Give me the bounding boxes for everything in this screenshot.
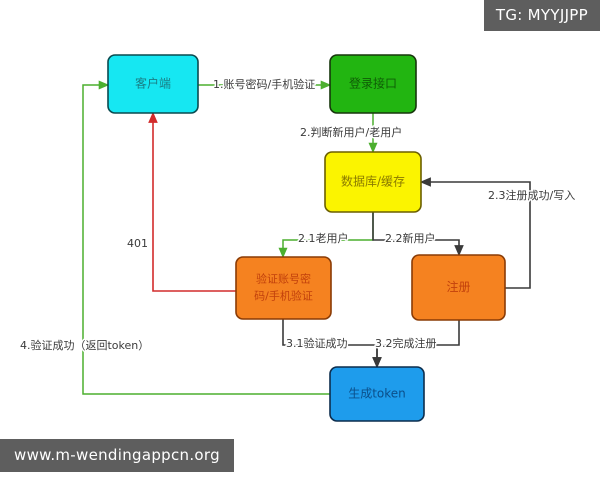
flowchart-svg: 客户端登录接口数据库/缓存验证账号密码/手机验证注册生成token 1.账号密码… xyxy=(0,0,600,480)
node-label-register: 注册 xyxy=(446,279,470,294)
watermark-bottom-left: www.m-wendingappcn.org xyxy=(0,439,234,472)
edge-label-e22: 2.2新用户 xyxy=(385,231,436,245)
node-client[interactable]: 客户端 xyxy=(108,55,198,113)
edge-label-e23: 2.3注册成功/写入 xyxy=(488,188,575,202)
node-verify[interactable]: 验证账号密码/手机验证 xyxy=(236,257,331,319)
node-database[interactable]: 数据库/缓存 xyxy=(325,152,421,212)
node-label-token: 生成token xyxy=(348,387,406,401)
edge-label-e1: 1.账号密码/手机验证 xyxy=(213,77,315,91)
node-label-database: 数据库/缓存 xyxy=(341,174,405,189)
node-label-client: 客户端 xyxy=(135,76,171,91)
node-token[interactable]: 生成token xyxy=(330,367,424,421)
edge-label-e4: 4.验证成功（返回token） xyxy=(20,338,149,352)
node-login[interactable]: 登录接口 xyxy=(330,55,416,113)
node-label-verify: 验证账号密 xyxy=(256,272,311,286)
node-register[interactable]: 注册 xyxy=(412,255,505,320)
edge-label-e31: 3.1验证成功 xyxy=(286,336,348,350)
edge-label-e32: 3.2完成注册 xyxy=(375,336,437,350)
node-label-verify: 码/手机验证 xyxy=(254,289,313,303)
flowchart-canvas: 客户端登录接口数据库/缓存验证账号密码/手机验证注册生成token 1.账号密码… xyxy=(0,0,600,480)
node-label-login: 登录接口 xyxy=(349,76,397,91)
watermark-top-right: TG: MYYJJPP xyxy=(484,0,600,31)
edge-label-e401: 401 xyxy=(127,237,148,250)
edge-label-e2: 2.判断新用户/老用户 xyxy=(300,125,402,139)
edge-label-e21: 2.1老用户 xyxy=(298,231,349,245)
edge-e401 xyxy=(153,113,236,291)
